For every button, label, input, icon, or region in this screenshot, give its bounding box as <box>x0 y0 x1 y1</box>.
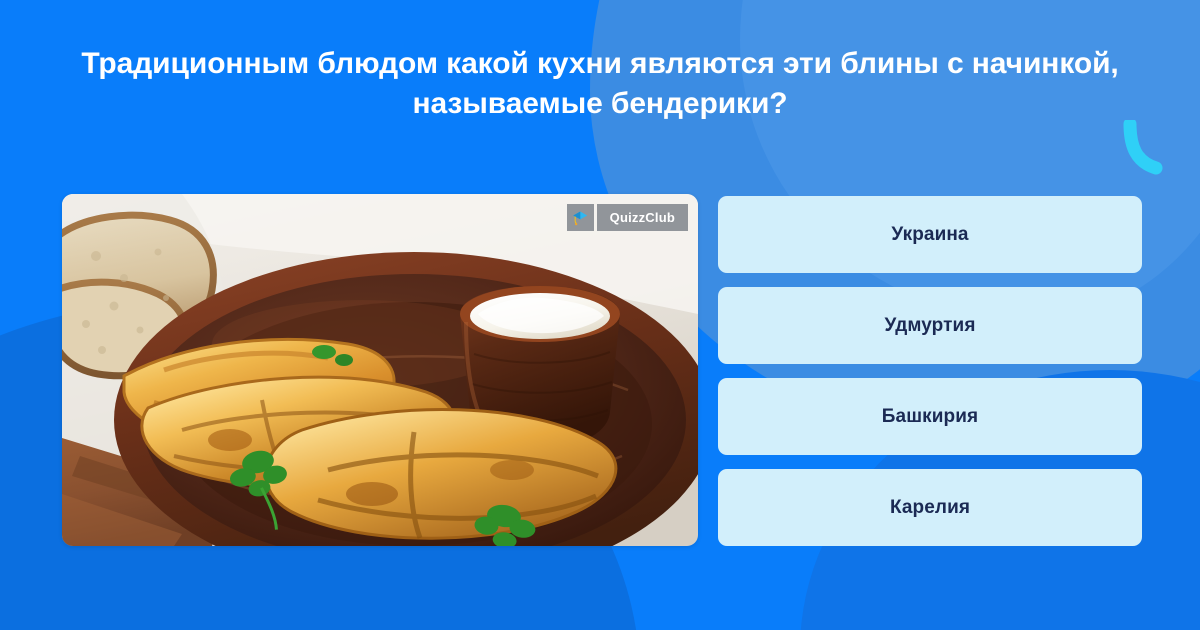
answer-option-3[interactable]: Башкирия <box>718 378 1142 455</box>
watermark-brand: QuizzClub <box>597 204 688 231</box>
answer-options-list: Украина Удмуртия Башкирия Карелия <box>718 196 1142 560</box>
question-text: Традиционным блюдом какой кухни являются… <box>60 44 1140 124</box>
answer-option-4[interactable]: Карелия <box>718 469 1142 546</box>
answer-option-1[interactable]: Украина <box>718 196 1142 273</box>
quiz-question-card: Традиционным блюдом какой кухни являются… <box>0 0 1200 630</box>
answer-option-2-label: Удмуртия <box>884 315 975 337</box>
graduation-cap-icon <box>567 204 594 231</box>
cyan-swoosh-icon <box>1122 120 1178 178</box>
question-image: QuizzClub <box>62 194 698 546</box>
watermark-badge: QuizzClub <box>567 204 688 231</box>
answer-option-4-label: Карелия <box>890 497 970 519</box>
answer-option-3-label: Башкирия <box>882 406 978 428</box>
answer-option-2[interactable]: Удмуртия <box>718 287 1142 364</box>
answer-option-1-label: Украина <box>891 224 968 246</box>
food-photo <box>62 194 698 546</box>
